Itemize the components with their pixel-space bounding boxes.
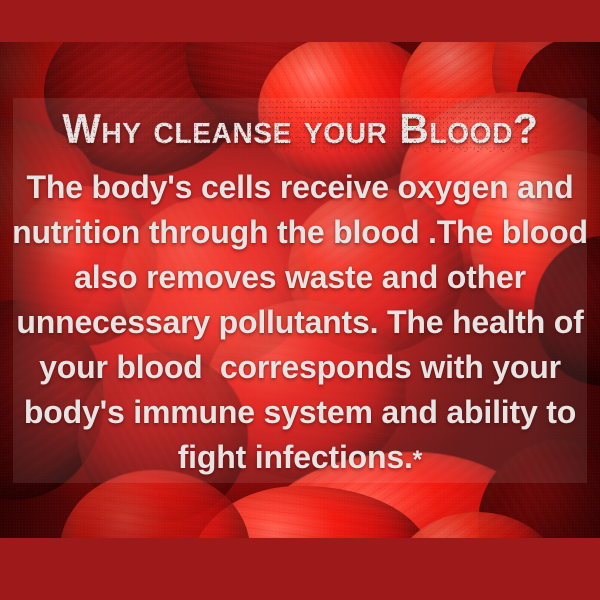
footnote-asterisk: * [413,446,423,474]
top-band [0,0,600,42]
body-paragraph-text: The body's cells receive oxygen and nutr… [12,169,588,475]
page-title-text: Why cleanse your Blood? [62,105,538,152]
body-paragraph: The body's cells receive oxygen and nutr… [5,152,596,483]
text-content: Why cleanse your Blood? The body's cells… [0,98,600,498]
blood-poster: Why cleanse your Blood? The body's cells… [0,0,600,600]
page-title: Why cleanse your Blood? [62,98,538,152]
bottom-band [0,538,600,600]
